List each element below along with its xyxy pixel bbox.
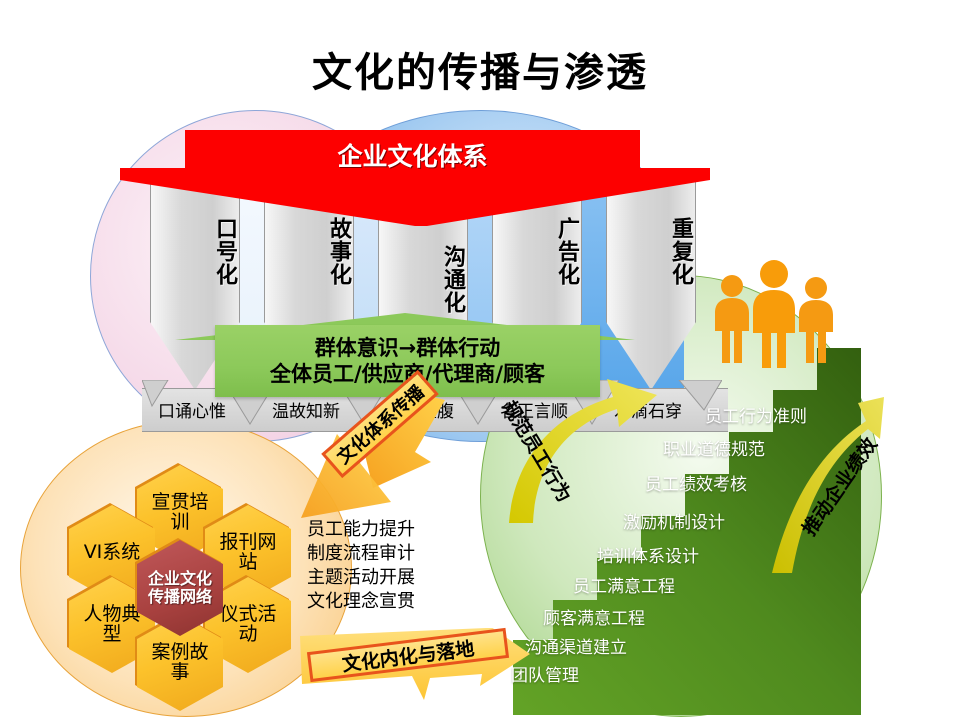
culture-actions-list: 员工能力提升 制度流程审计 主题活动开展 文化理念宣贯 (307, 518, 457, 614)
diagram-canvas: 文化的传播与渗透 企业文化体系 口号化 故事化 (0, 0, 960, 720)
hex-center-line2: 传播网络 (148, 588, 212, 606)
culture-system-banner: 企业文化体系 (185, 130, 640, 180)
culture-action-item: 制度流程审计 (307, 542, 457, 566)
culture-action-item: 主题活动开展 (307, 566, 457, 590)
culture-action-item: 文化理念宣贯 (307, 590, 457, 614)
people-group-icon (700, 258, 850, 368)
group-action-line1: 群体意识→群体行动 (315, 335, 501, 361)
culture-network-hex-cluster: 宣贯培训 报刊网站 VI系统 仪式活动 人物典型 案例故事 企业文化 传播网络 (45, 465, 325, 690)
hex-center-line1: 企业文化 (148, 570, 212, 588)
page-title: 文化的传播与渗透 (0, 40, 960, 98)
